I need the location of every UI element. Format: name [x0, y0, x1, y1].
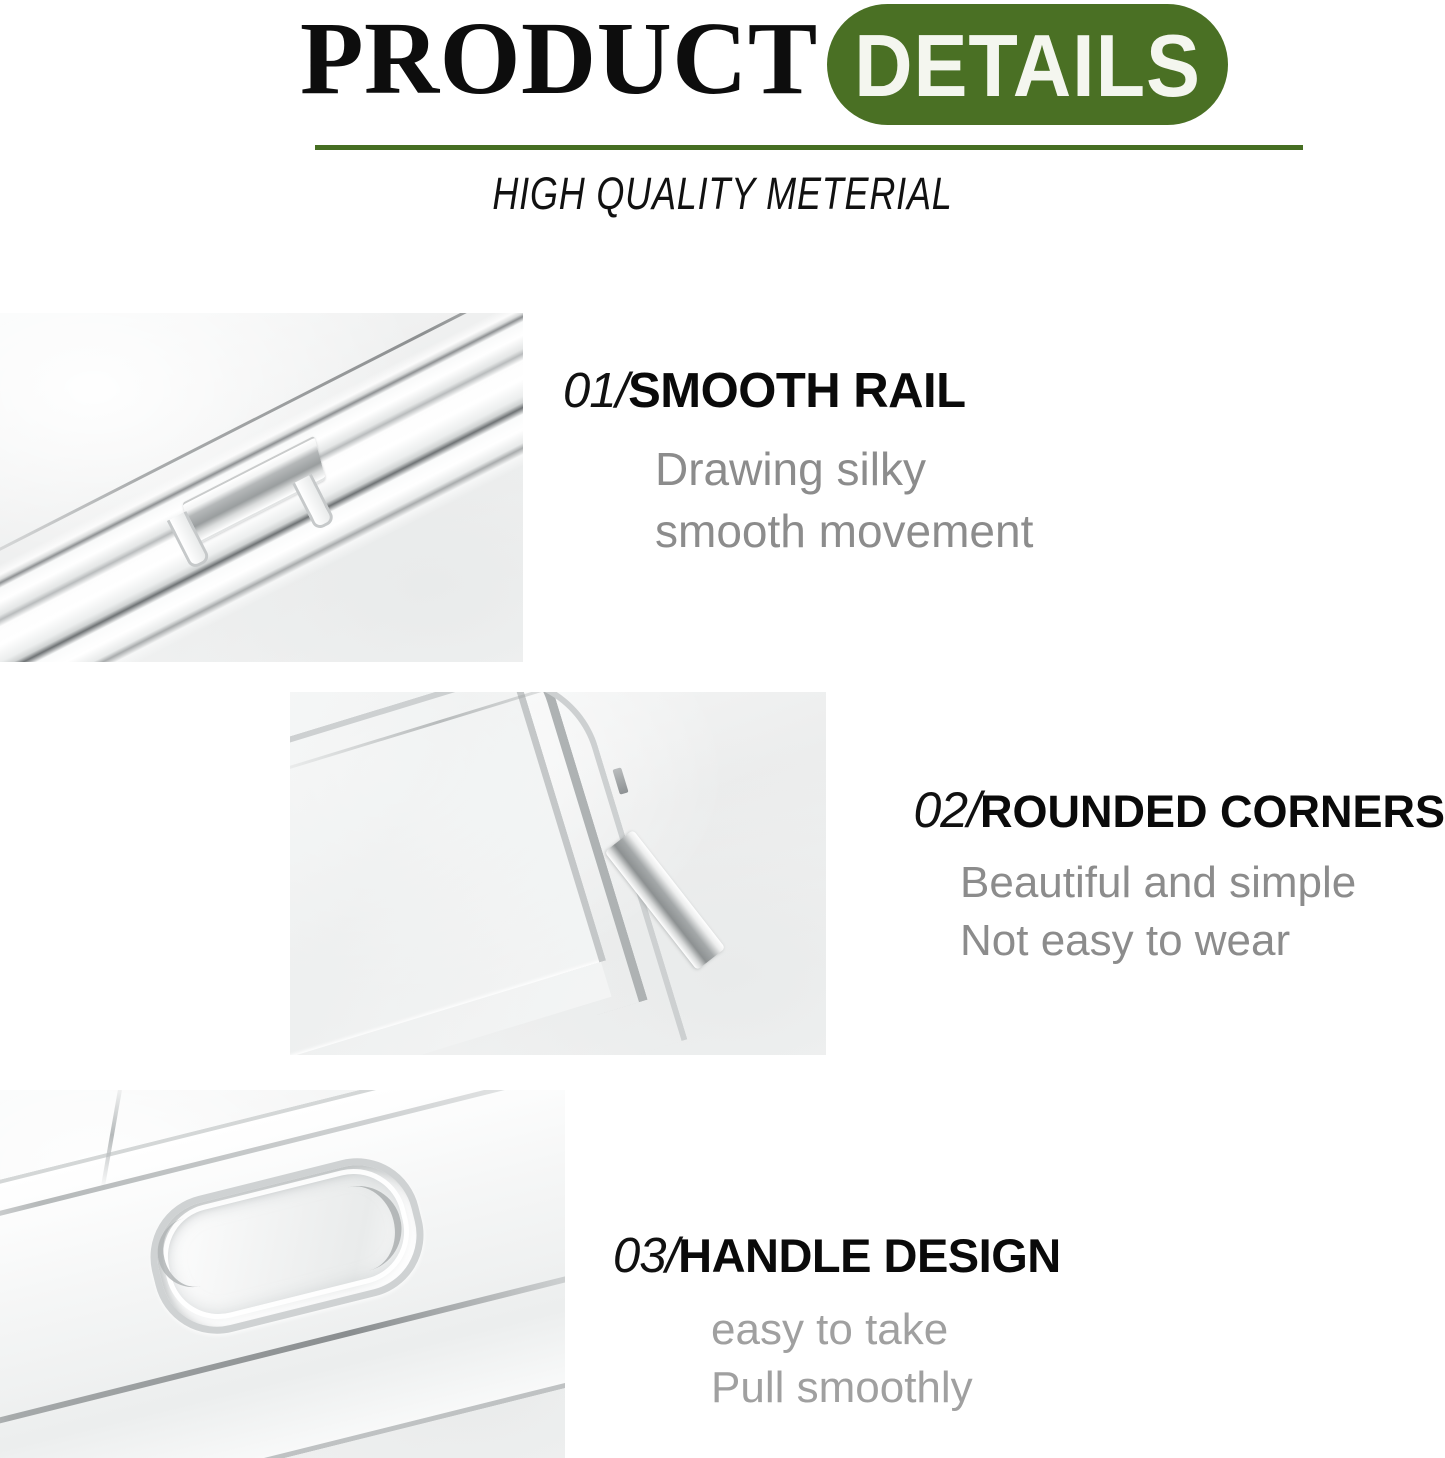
feature-number: 03/ — [613, 1229, 678, 1283]
feature-heading: 03/HANDLE DESIGN — [613, 1232, 1313, 1281]
feature-name: SMOOTH RAIL — [628, 364, 965, 418]
feature-block-smooth-rail: 01/SMOOTH RAIL Drawing silky smooth move… — [563, 367, 1263, 562]
feature-name: HANDLE DESIGN — [678, 1229, 1061, 1282]
feature-heading: 01/SMOOTH RAIL — [563, 367, 1263, 416]
page-title-highlight-pill: DETAILS — [827, 4, 1228, 125]
feature-description-line: smooth movement — [655, 500, 1263, 562]
feature-photo-handle-design — [0, 1090, 565, 1458]
header-divider-rule — [315, 145, 1303, 150]
feature-number: 02/ — [913, 782, 980, 838]
page-title: PRODUCT DETAILS — [0, 0, 1445, 130]
feature-description-line: Beautiful and simple — [960, 854, 1445, 912]
feature-number: 01/ — [563, 364, 628, 418]
feature-description-line: Pull smoothly — [711, 1359, 1313, 1417]
feature-block-handle-design: 03/HANDLE DESIGN easy to take Pull smoot… — [613, 1232, 1313, 1417]
feature-name: ROUNDED CORNERS — [980, 786, 1445, 837]
page-title-highlight-word: DETAILS — [843, 4, 1212, 125]
page-header: PRODUCT DETAILS HIGH QUALITY METERIAL — [0, 0, 1445, 245]
feature-description: easy to take Pull smoothly — [711, 1301, 1313, 1417]
feature-description-line: Drawing silky — [655, 438, 1263, 500]
feature-description-line: Not easy to wear — [960, 912, 1445, 970]
page-title-plain-word: PRODUCT — [300, 4, 812, 114]
feature-description-line: easy to take — [711, 1301, 1313, 1359]
page-subtitle: HIGH QUALITY METERIAL — [145, 168, 1301, 220]
feature-description: Drawing silky smooth movement — [655, 438, 1263, 562]
feature-photo-smooth-rail — [0, 313, 523, 662]
feature-heading: 02/ROUNDED CORNERS — [600, 785, 1445, 836]
feature-description: Beautiful and simple Not easy to wear — [600, 854, 1445, 970]
feature-block-rounded-corners: 02/ROUNDED CORNERS Beautiful and simple … — [600, 785, 1445, 970]
